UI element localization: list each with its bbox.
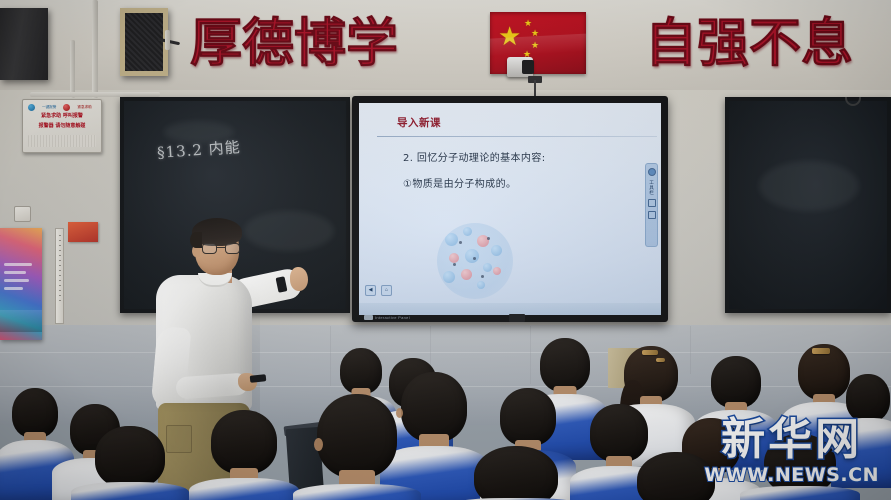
alarm-speaker-grille <box>28 135 96 147</box>
poster-text-line <box>4 279 29 282</box>
sidebar-label: 工具栏 <box>649 180 655 195</box>
student-head <box>764 434 836 494</box>
student-head <box>500 388 556 446</box>
student-head <box>211 410 277 474</box>
home-icon[interactable]: ⌂ <box>381 285 392 296</box>
wall-banner-left: 厚德博学 <box>190 8 440 80</box>
ir-receiver-icon <box>509 314 525 322</box>
display-brand-text: Interactive Panel <box>375 315 410 320</box>
student <box>456 446 576 500</box>
conduit-pipe <box>92 0 98 98</box>
glasses-bridge <box>217 247 225 248</box>
student-uniform <box>189 478 299 500</box>
back-icon[interactable]: ◀ <box>365 285 376 296</box>
student-head <box>474 446 558 500</box>
student-head <box>95 426 165 488</box>
student-uniform <box>71 482 189 500</box>
slide-title: 导入新课 <box>397 115 441 130</box>
student <box>748 434 852 500</box>
student <box>78 426 182 500</box>
wall-speaker-left <box>0 8 48 80</box>
student <box>196 410 292 500</box>
hanging-wire <box>534 80 536 96</box>
student <box>620 452 732 500</box>
eyeglasses-icon <box>202 243 240 254</box>
conduit-pipe <box>70 40 75 98</box>
presentation-screen[interactable]: 导入新课 2. 回忆分子动理论的基本内容: ①物质是由分子构成的。 <box>359 103 661 315</box>
poster-text-line <box>4 287 23 290</box>
alarm-text-line-1: 紧急求助 呼叫报警 <box>28 113 96 121</box>
chalkboard-writing: §13.2 内能 <box>156 136 241 163</box>
teacher-pointing-hand <box>290 267 308 291</box>
flag-small-star: ★ <box>524 19 532 28</box>
hair-clip-icon <box>656 358 665 362</box>
hair-clip-icon <box>642 350 658 355</box>
alarm-indicator-icon <box>63 104 70 111</box>
alarm-text-line-2: 报警器 请勿随意触碰 <box>28 123 96 131</box>
molecule-cluster-diagram <box>437 223 513 299</box>
student-ear <box>314 438 323 451</box>
display-brand-logo: Interactive Panel <box>364 314 420 321</box>
student-head <box>317 394 397 478</box>
alarm-indicator-icon <box>28 104 35 111</box>
poster-text-line <box>4 271 26 274</box>
flag-small-star: ★ <box>531 41 539 50</box>
hair-clip-icon <box>812 348 830 354</box>
shape-icon[interactable] <box>648 199 656 207</box>
slide-title-divider <box>377 136 657 137</box>
student-uniform <box>740 486 860 500</box>
safety-education-poster <box>0 228 42 340</box>
student-head <box>12 388 58 438</box>
chalkboard-right <box>725 97 891 313</box>
wall-speaker-right <box>120 8 168 76</box>
pen-icon[interactable] <box>648 168 656 176</box>
slide-body-line-1: 2. 回忆分子动理论的基本内容: <box>403 149 546 164</box>
teacher-hair <box>192 218 242 246</box>
slide-body-line-2: ①物质是由分子构成的。 <box>403 175 516 190</box>
interactive-flat-panel[interactable]: 导入新课 2. 回忆分子动理论的基本内容: ①物质是由分子构成的。 <box>352 96 668 322</box>
banner-left-text: 厚德博学 <box>190 18 398 70</box>
brand-mark-icon <box>364 315 373 320</box>
wall-banner-right: 自强不息 <box>645 8 885 80</box>
security-camera-icon <box>507 57 533 77</box>
student-head <box>846 374 890 422</box>
conduit-pipe <box>165 30 170 50</box>
student-head <box>711 356 761 408</box>
flag-small-star: ★ <box>531 29 539 38</box>
student-head <box>637 452 715 500</box>
flag-big-star: ★ <box>498 23 521 49</box>
select-icon[interactable] <box>648 211 656 219</box>
alarm-badge-left: 一键报警 <box>42 105 56 109</box>
wall-power-socket[interactable] <box>14 206 31 222</box>
fire-notice-card <box>68 222 98 242</box>
student <box>302 394 412 500</box>
emergency-alarm-panel[interactable]: 一键报警 紧急求助 紧急求助 呼叫报警 报警器 请勿随意触碰 <box>22 99 102 153</box>
chalk-smudge <box>759 161 859 211</box>
wall-thermometer <box>55 228 64 324</box>
alarm-badge-right: 紧急求助 <box>77 105 91 109</box>
classroom-photo: 厚德博学 自强不息 ★ ★ ★ ★ ★ 一键报警 紧急求助 紧急求助 呼叫报警 … <box>0 0 891 500</box>
slide-sidebar-toolbar[interactable]: 工具栏 <box>645 163 658 247</box>
alarm-badges: 一键报警 紧急求助 <box>28 104 96 111</box>
students-audience <box>0 326 891 500</box>
poster-text-line <box>4 263 32 266</box>
student-head <box>540 338 590 392</box>
chinese-flag-icon: ★ ★ ★ ★ ★ <box>490 12 586 74</box>
glasses-left-lens <box>202 243 217 254</box>
banner-right-text: 自强不息 <box>645 18 853 70</box>
slide-bottom-toolbar[interactable]: ◀ ⌂ <box>365 283 417 297</box>
student-uniform <box>293 484 421 500</box>
glasses-right-lens <box>225 243 240 254</box>
